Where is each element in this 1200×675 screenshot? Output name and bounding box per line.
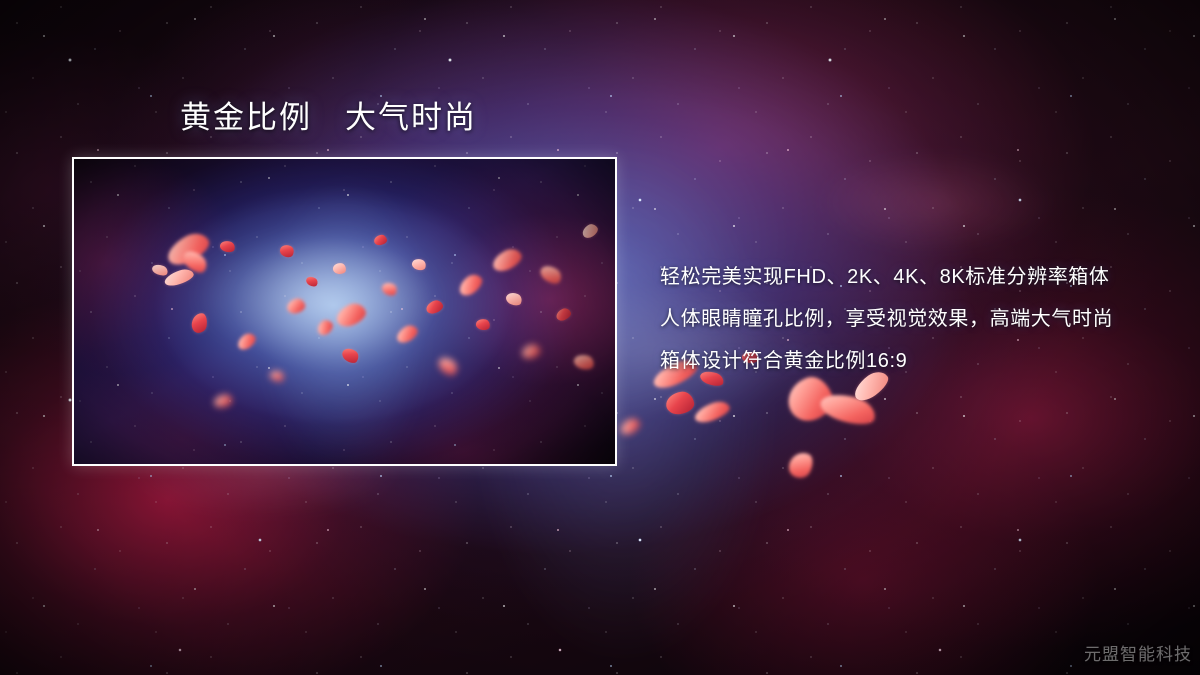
page-title: 黄金比例 大气时尚	[180, 100, 477, 136]
watermark: 元盟智能科技	[1084, 640, 1192, 665]
slide-canvas: 黄金比例 大气时尚 轻松完美实现FHD、2K、4K、8K标准分辨率箱体 人体眼睛…	[0, 0, 1200, 675]
display-frame	[72, 157, 617, 466]
copy-line-2: 人体眼睛瞳孔比例，享受视觉效果，高端大气时尚	[660, 298, 1160, 340]
copy-line-1: 轻松完美实现FHD、2K、4K、8K标准分辨率箱体	[660, 256, 1160, 298]
copy-line-3: 箱体设计符合黄金比例16:9	[660, 340, 1160, 382]
panel-vignette	[74, 159, 615, 464]
body-copy: 轻松完美实现FHD、2K、4K、8K标准分辨率箱体 人体眼睛瞳孔比例，享受视觉效…	[660, 256, 1160, 382]
